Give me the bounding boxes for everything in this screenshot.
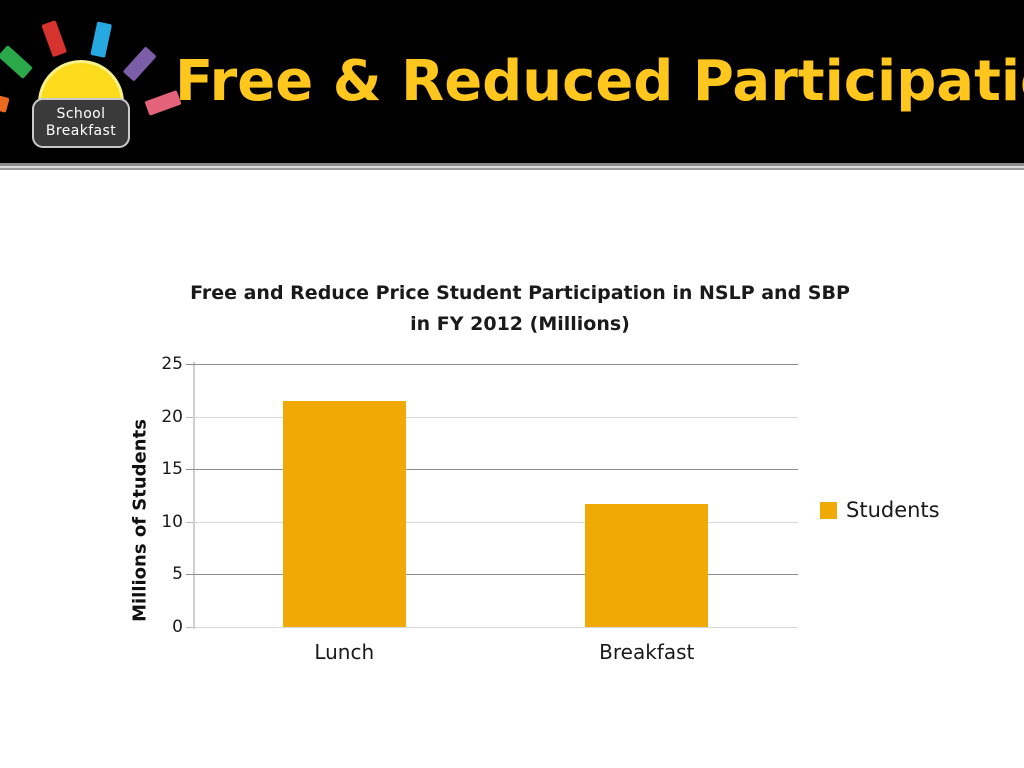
ray-green-icon bbox=[0, 45, 33, 79]
logo-badge-line-2: Breakfast bbox=[46, 123, 116, 140]
gridline-0 bbox=[193, 627, 798, 628]
legend-label-students: Students bbox=[846, 498, 940, 522]
y-tick-5 bbox=[186, 574, 193, 575]
chart-legend: Students bbox=[820, 498, 940, 522]
slide-title: Free & Reduced Participation bbox=[175, 47, 1024, 117]
ray-blue-icon bbox=[90, 21, 112, 57]
y-tick-label-5: 5 bbox=[139, 564, 183, 584]
legend-swatch-students bbox=[820, 502, 837, 519]
x-axis-label-breakfast: Breakfast bbox=[496, 640, 799, 664]
y-tick-0 bbox=[186, 627, 193, 628]
slide-header-bar: School Breakfast Free & Reduced Particip… bbox=[0, 0, 1024, 163]
chart-title-line-2: in FY 2012 (Millions) bbox=[160, 309, 880, 340]
bar-chart: Free and Reduce Price Student Participat… bbox=[0, 170, 1024, 768]
y-tick-25 bbox=[186, 364, 193, 365]
y-tick-15 bbox=[186, 469, 193, 470]
logo-badge: School Breakfast bbox=[32, 98, 130, 148]
gridline-25 bbox=[193, 364, 798, 365]
y-tick-10 bbox=[186, 522, 193, 523]
ray-purple-icon bbox=[123, 46, 157, 81]
plot-area bbox=[193, 364, 798, 627]
chart-title-line-1: Free and Reduce Price Student Participat… bbox=[160, 278, 880, 309]
logo-badge-line-1: School bbox=[57, 106, 106, 123]
y-tick-label-15: 15 bbox=[139, 459, 183, 479]
bar-breakfast[interactable] bbox=[585, 504, 708, 627]
y-tick-label-20: 20 bbox=[139, 407, 183, 427]
y-tick-label-0: 0 bbox=[139, 617, 183, 637]
y-tick-label-25: 25 bbox=[139, 354, 183, 374]
ray-red-icon bbox=[41, 20, 67, 57]
y-tick-20 bbox=[186, 417, 193, 418]
y-tick-label-10: 10 bbox=[139, 512, 183, 532]
chart-title: Free and Reduce Price Student Participat… bbox=[160, 278, 880, 340]
bar-lunch[interactable] bbox=[283, 401, 406, 627]
x-axis-label-lunch: Lunch bbox=[193, 640, 496, 664]
school-breakfast-logo: School Breakfast bbox=[4, 12, 154, 152]
y-axis-tick-labels: 2520151050 bbox=[133, 364, 183, 627]
ray-orange-icon bbox=[0, 90, 10, 113]
